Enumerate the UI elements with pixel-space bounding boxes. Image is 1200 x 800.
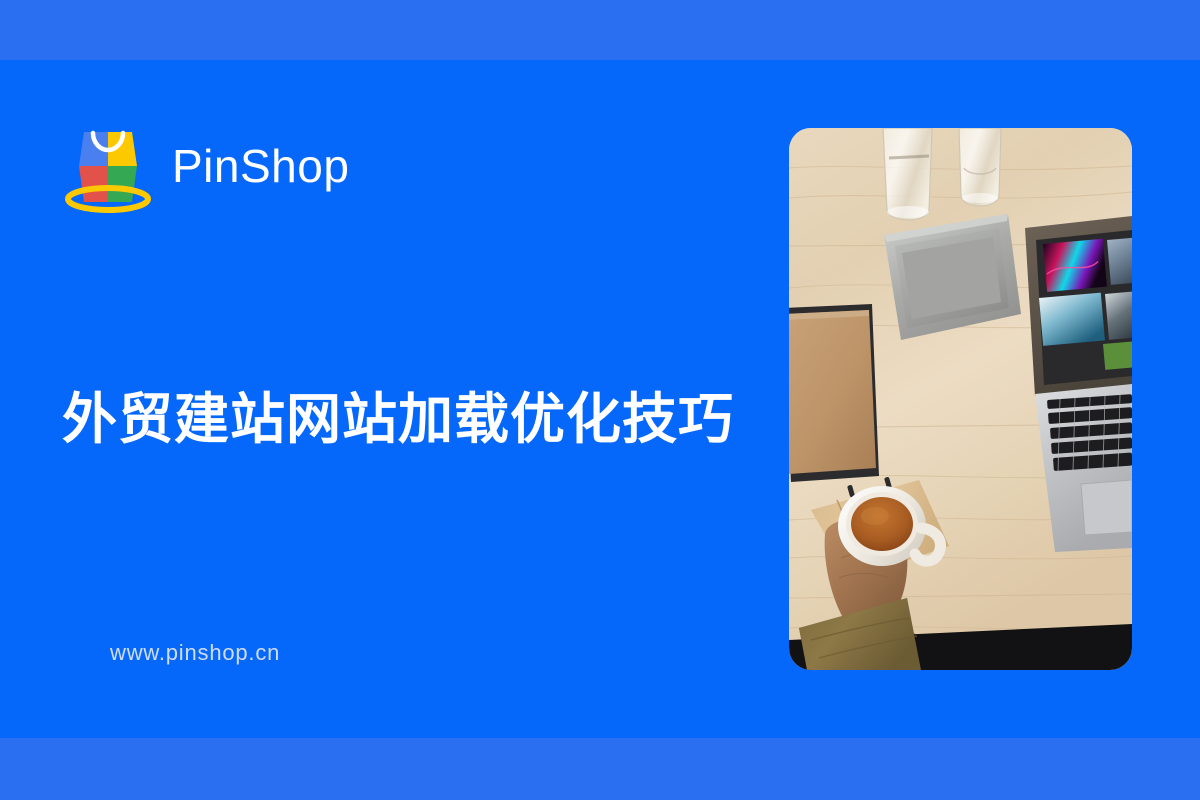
- hero-photo: [789, 128, 1132, 670]
- poster-canvas: PinShop 外贸建站网站加载优化技巧 www.pinshop.cn: [0, 0, 1200, 800]
- site-url: www.pinshop.cn: [110, 640, 280, 666]
- shopping-bag-icon: [62, 118, 154, 214]
- page-title: 外贸建站网站加载优化技巧: [62, 386, 762, 452]
- brand-lockup[interactable]: PinShop: [62, 118, 349, 214]
- top-accent-band: [0, 0, 1200, 60]
- bottom-accent-band: [0, 738, 1200, 800]
- brand-name: PinShop: [172, 143, 349, 189]
